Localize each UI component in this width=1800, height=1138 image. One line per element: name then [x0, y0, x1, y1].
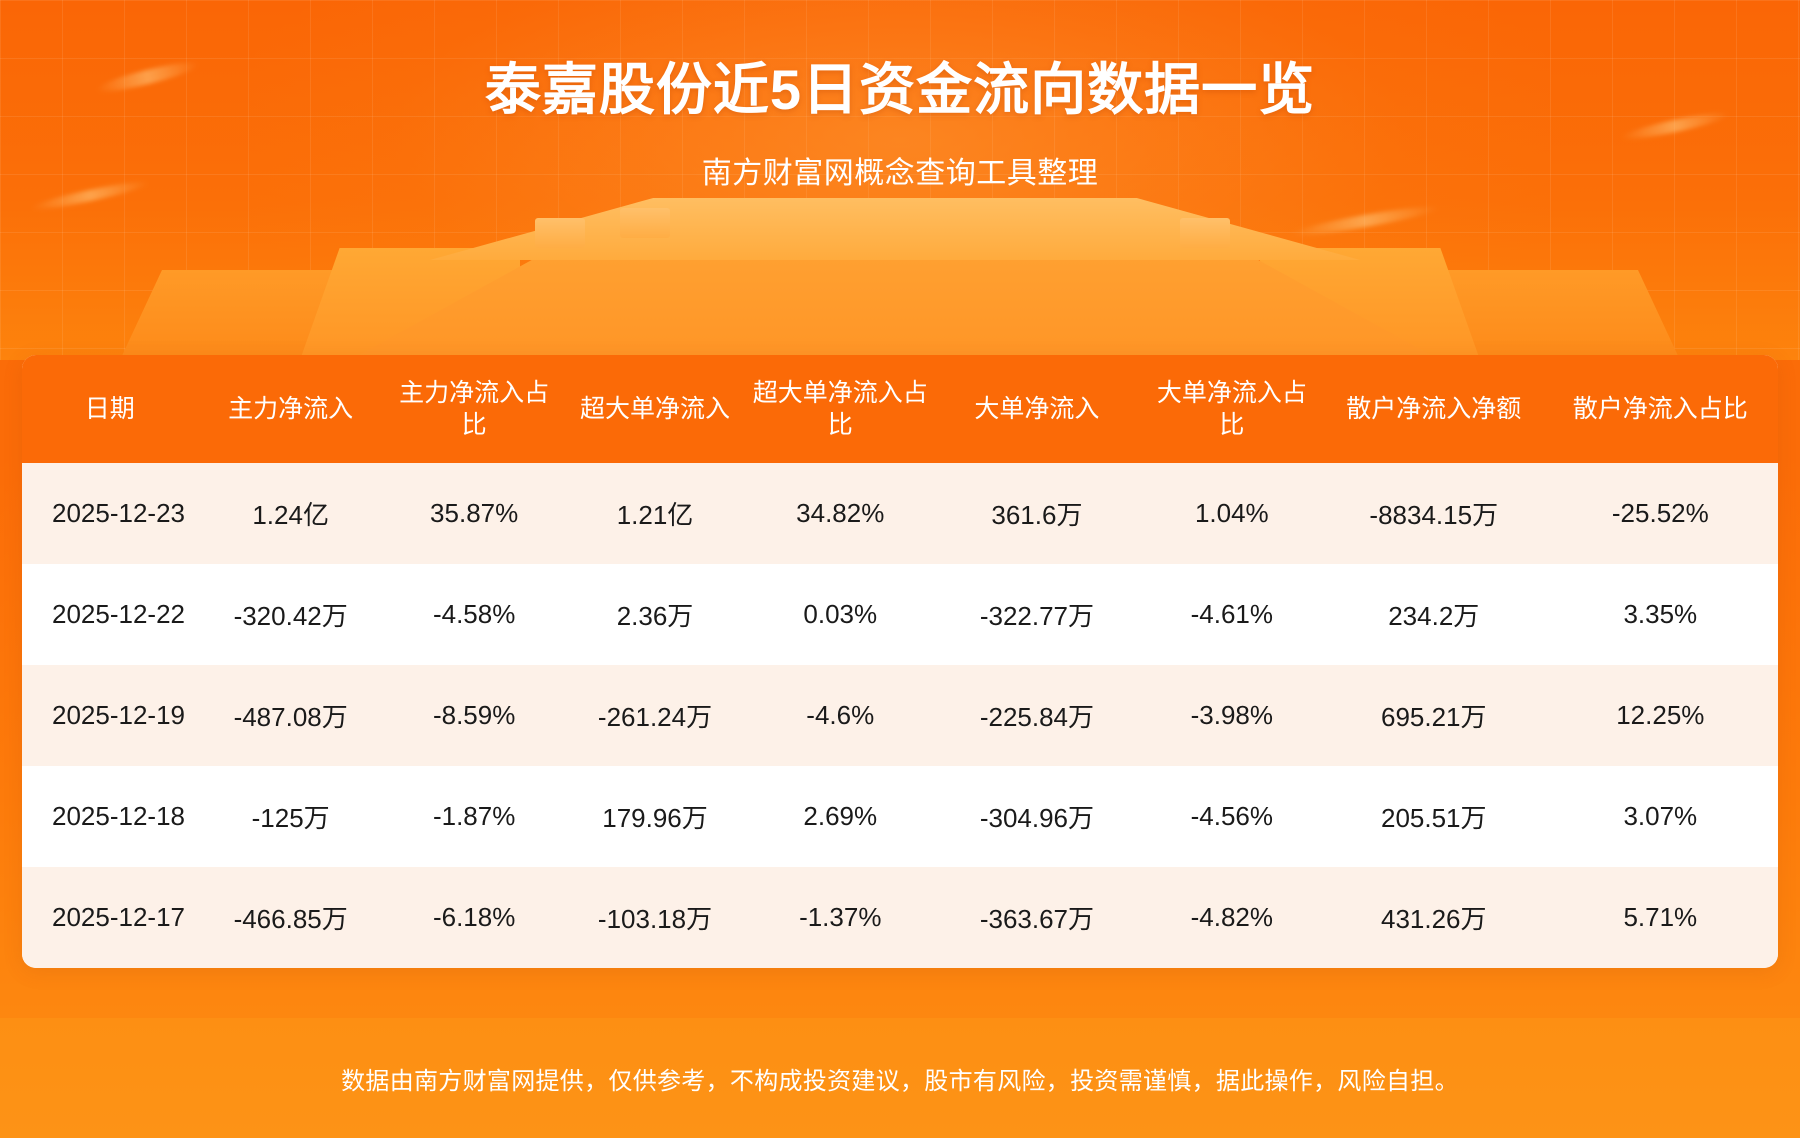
- cell-main-net: -125万: [198, 766, 384, 867]
- cell-lg-pct: -4.56%: [1139, 766, 1325, 867]
- cell-main-pct: 35.87%: [384, 463, 565, 564]
- cell-retail-net: -8834.15万: [1325, 463, 1543, 564]
- cell-xl-net: 179.96万: [565, 766, 746, 867]
- cell-main-pct: -1.87%: [384, 766, 565, 867]
- cell-xl-net: -261.24万: [565, 665, 746, 766]
- cell-date: 2025-12-22: [22, 564, 198, 665]
- hero-banner: 泰嘉股份近5日资金流向数据一览 南方财富网概念查询工具整理: [0, 0, 1800, 360]
- footer-bar: 数据由南方财富网提供，仅供参考，不构成投资建议，股市有风险，投资需谨慎，据此操作…: [0, 1018, 1800, 1138]
- cell-main-net: -320.42万: [198, 564, 384, 665]
- cell-main-net: -466.85万: [198, 867, 384, 968]
- cell-retail-pct: 5.71%: [1543, 867, 1778, 968]
- column-header-xl-net[interactable]: 超大单净流入: [565, 355, 746, 463]
- column-header-lg-net[interactable]: 大单净流入: [935, 355, 1139, 463]
- infographic-page: 泰嘉股份近5日资金流向数据一览 南方财富网概念查询工具整理 南方财富网 Sout…: [0, 0, 1800, 1138]
- cell-xl-pct: 0.03%: [745, 564, 935, 665]
- data-table-card: 南方财富网 Southmoney.com 日期 主力净流入 主力净流入占比: [22, 355, 1778, 968]
- table-header-row: 日期 主力净流入 主力净流入占比 超大单净流入 超大单净流入占比 大单净流入 大…: [22, 355, 1778, 463]
- cell-date: 2025-12-23: [22, 463, 198, 564]
- podium-nub: [1180, 218, 1230, 248]
- column-header-date[interactable]: 日期: [22, 355, 198, 463]
- table-row: 2025-12-23 1.24亿 35.87% 1.21亿 34.82% 361…: [22, 463, 1778, 564]
- podium-nub: [535, 218, 585, 248]
- cell-retail-net: 234.2万: [1325, 564, 1543, 665]
- cell-xl-net: 2.36万: [565, 564, 746, 665]
- fund-flow-table: 日期 主力净流入 主力净流入占比 超大单净流入 超大单净流入占比 大单净流入 大…: [22, 355, 1778, 968]
- cell-main-net: 1.24亿: [198, 463, 384, 564]
- table-row: 2025-12-22 -320.42万 -4.58% 2.36万 0.03% -…: [22, 564, 1778, 665]
- cell-xl-net: 1.21亿: [565, 463, 746, 564]
- cell-retail-pct: 3.35%: [1543, 564, 1778, 665]
- cell-retail-pct: -25.52%: [1543, 463, 1778, 564]
- table-row: 2025-12-17 -466.85万 -6.18% -103.18万 -1.3…: [22, 867, 1778, 968]
- cell-xl-pct: -1.37%: [745, 867, 935, 968]
- cell-lg-net: -363.67万: [935, 867, 1139, 968]
- page-title: 泰嘉股份近5日资金流向数据一览: [0, 45, 1800, 126]
- table-header: 日期 主力净流入 主力净流入占比 超大单净流入 超大单净流入占比 大单净流入 大…: [22, 355, 1778, 463]
- cell-lg-pct: -4.82%: [1139, 867, 1325, 968]
- column-header-retail-pct[interactable]: 散户净流入占比: [1543, 355, 1778, 463]
- cell-xl-net: -103.18万: [565, 867, 746, 968]
- cell-lg-pct: -3.98%: [1139, 665, 1325, 766]
- cell-lg-net: -322.77万: [935, 564, 1139, 665]
- column-header-retail-net[interactable]: 散户净流入净额: [1325, 355, 1543, 463]
- hero-podium-graphic: [0, 185, 1800, 360]
- column-header-main-pct[interactable]: 主力净流入占比: [384, 355, 565, 463]
- cell-main-net: -487.08万: [198, 665, 384, 766]
- cell-main-pct: -8.59%: [384, 665, 565, 766]
- cell-xl-pct: 34.82%: [745, 463, 935, 564]
- cell-xl-pct: -4.6%: [745, 665, 935, 766]
- cell-date: 2025-12-18: [22, 766, 198, 867]
- footer-disclaimer: 数据由南方财富网提供，仅供参考，不构成投资建议，股市有风险，投资需谨慎，据此操作…: [341, 1061, 1459, 1096]
- page-subtitle: 南方财富网概念查询工具整理: [0, 148, 1800, 192]
- table-body: 2025-12-23 1.24亿 35.87% 1.21亿 34.82% 361…: [22, 463, 1778, 968]
- cell-lg-net: -225.84万: [935, 665, 1139, 766]
- cell-xl-pct: 2.69%: [745, 766, 935, 867]
- cell-main-pct: -4.58%: [384, 564, 565, 665]
- cell-date: 2025-12-19: [22, 665, 198, 766]
- cell-lg-net: 361.6万: [935, 463, 1139, 564]
- column-header-main-net[interactable]: 主力净流入: [198, 355, 384, 463]
- column-header-xl-pct[interactable]: 超大单净流入占比: [745, 355, 935, 463]
- cell-retail-pct: 3.07%: [1543, 766, 1778, 867]
- cell-retail-net: 205.51万: [1325, 766, 1543, 867]
- cell-retail-net: 431.26万: [1325, 867, 1543, 968]
- cell-retail-pct: 12.25%: [1543, 665, 1778, 766]
- cell-date: 2025-12-17: [22, 867, 198, 968]
- column-header-lg-pct[interactable]: 大单净流入占比: [1139, 355, 1325, 463]
- cell-main-pct: -6.18%: [384, 867, 565, 968]
- cell-lg-net: -304.96万: [935, 766, 1139, 867]
- cell-retail-net: 695.21万: [1325, 665, 1543, 766]
- table-row: 2025-12-19 -487.08万 -8.59% -261.24万 -4.6…: [22, 665, 1778, 766]
- cell-lg-pct: -4.61%: [1139, 564, 1325, 665]
- table-row: 2025-12-18 -125万 -1.87% 179.96万 2.69% -3…: [22, 766, 1778, 867]
- cell-lg-pct: 1.04%: [1139, 463, 1325, 564]
- podium-nub: [620, 208, 670, 238]
